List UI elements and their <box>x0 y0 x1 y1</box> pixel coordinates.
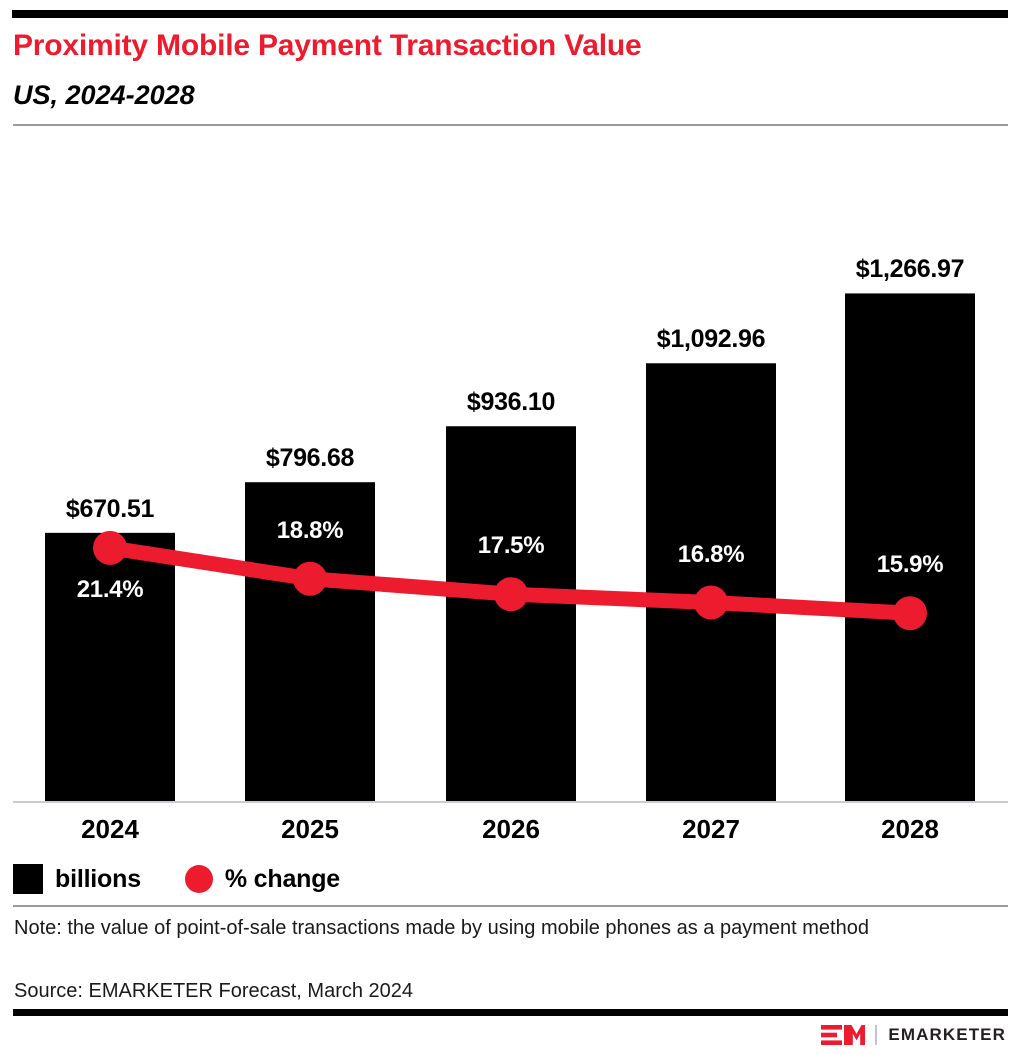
percent-change-label: 21.4% <box>0 576 220 604</box>
chart-source: Source: EMARKETER Forecast, March 2024 <box>14 977 994 1005</box>
bar-value-label: $796.68 <box>190 444 430 473</box>
marker-2028 <box>893 596 927 630</box>
x-axis-tick-2028: 2028 <box>800 814 1020 845</box>
percent-change-label: 17.5% <box>401 532 621 560</box>
x-axis-tick-2024: 2024 <box>0 814 220 845</box>
bar-value-label: $1,266.97 <box>790 255 1020 284</box>
page-title: Proximity Mobile Payment Transaction Val… <box>13 28 993 64</box>
footer-bottom-divider <box>13 1009 1008 1016</box>
bar-2027 <box>646 363 776 802</box>
percent-change-label: 16.8% <box>601 541 821 569</box>
x-axis-tick-2025: 2025 <box>200 814 420 845</box>
page-subtitle: US, 2024-2028 <box>13 79 993 112</box>
brand-lockup: EMARKETER <box>821 1022 1006 1048</box>
marker-2025 <box>293 562 327 596</box>
x-axis-tick-2027: 2027 <box>601 814 821 845</box>
marker-2026 <box>494 577 528 611</box>
top-divider <box>12 10 1008 18</box>
legend-item-percent-change: % change <box>185 865 340 894</box>
header-divider <box>13 124 1008 126</box>
em-logo-icon <box>821 1024 865 1046</box>
percent-change-label: 15.9% <box>800 551 1020 579</box>
bar-value-label: $1,092.96 <box>591 325 831 354</box>
x-axis-tick-2026: 2026 <box>401 814 621 845</box>
chart-legend: billions % change <box>13 862 340 896</box>
bar-2028 <box>845 293 975 802</box>
bar-2024 <box>45 533 175 802</box>
red-circle-icon <box>185 865 213 893</box>
black-square-icon <box>13 864 43 894</box>
brand-name: EMARKETER <box>888 1025 1006 1045</box>
legend-label-percent-change: % change <box>225 865 340 894</box>
brand-divider <box>875 1025 877 1045</box>
percent-change-label: 18.8% <box>200 517 420 545</box>
legend-item-billions: billions <box>13 864 141 894</box>
legend-label-billions: billions <box>55 865 141 894</box>
chart-note: Note: the value of point-of-sale transac… <box>14 913 994 943</box>
bar-2026 <box>446 426 576 802</box>
chart-page: Proximity Mobile Payment Transaction Val… <box>0 0 1020 1054</box>
marker-2027 <box>694 586 728 620</box>
bar-value-label: $670.51 <box>0 495 230 524</box>
footer-top-divider <box>13 905 1008 907</box>
bar-value-label: $936.10 <box>391 388 631 417</box>
marker-2024 <box>93 531 127 565</box>
